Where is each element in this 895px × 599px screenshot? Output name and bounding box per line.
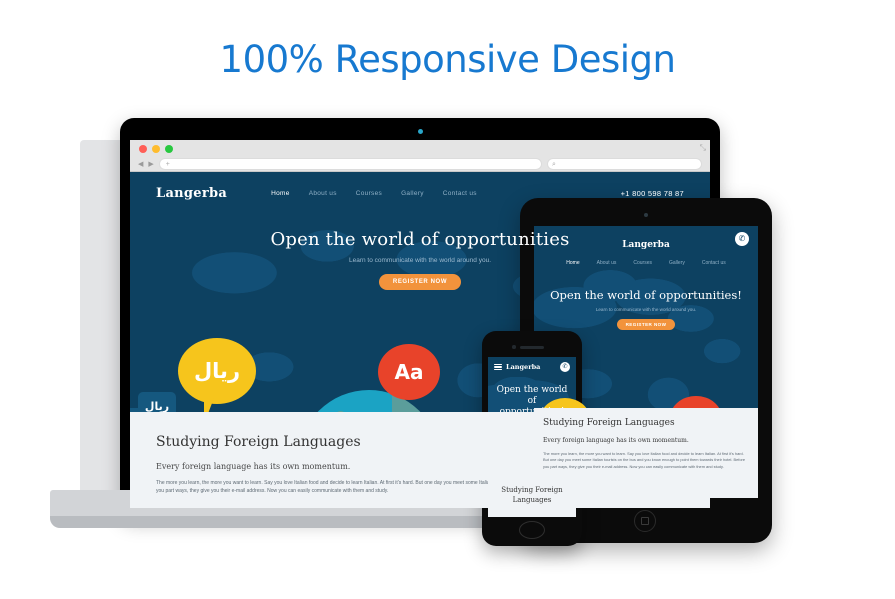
nav-item-home[interactable]: Home (271, 190, 290, 197)
tablet-register-now-button[interactable]: REGISTER NOW (617, 319, 676, 330)
phone-home-button[interactable] (519, 521, 545, 539)
responsive-design-mockup: 100% Responsive Design ⤡ ◀ (0, 0, 895, 599)
yellow-bubble-text: ريال (194, 359, 240, 383)
header-phone-number[interactable]: +1 800 598 78 87 (621, 189, 684, 198)
tablet-section-body: The more you learn, the more you want to… (543, 451, 749, 470)
browser-nav-buttons[interactable]: ◀ ▶ (138, 160, 154, 168)
nav-item-about-us[interactable]: About us (309, 190, 337, 197)
tablet-hero-section: Open the world of opportunities! Learn t… (534, 288, 758, 331)
phone-call-icon-mobile[interactable]: ✆ (560, 362, 570, 372)
tablet-nav-item-courses[interactable]: Courses (633, 260, 652, 266)
tablet-site-header: Langerba ✆ (534, 226, 758, 252)
back-icon[interactable]: ◀ (138, 160, 143, 168)
red-bubble-text: Aa (395, 360, 424, 384)
tablet-main-navigation: Home About us Courses Gallery Contact us (534, 260, 758, 266)
tablet-hero-subheading: Learn to communicate with the world arou… (534, 307, 758, 312)
tablet-nav-item-gallery[interactable]: Gallery (669, 260, 685, 266)
tablet-section-lead: Every foreign language has its own momen… (543, 437, 749, 444)
tablet-site-logo[interactable]: Langerba (622, 240, 670, 250)
phone-call-icon[interactable]: ✆ (735, 232, 749, 246)
close-window-icon[interactable] (139, 145, 147, 153)
red-speech-bubble: Aa (378, 344, 440, 400)
site-logo[interactable]: Langerba (156, 186, 227, 201)
main-navigation: Home About us Courses Gallery Contact us (271, 190, 477, 197)
tablet-section-title: Studying Foreign Languages (543, 418, 749, 428)
nav-item-contact-us[interactable]: Contact us (443, 190, 477, 197)
page-title: 100% Responsive Design (0, 38, 895, 81)
nav-item-courses[interactable]: Courses (356, 190, 382, 197)
register-now-button[interactable]: REGISTER NOW (379, 274, 461, 290)
home-square-icon (641, 517, 649, 525)
tablet-hero-heading: Open the world of opportunities! (534, 288, 758, 302)
tablet-nav-item-home[interactable]: Home (566, 260, 579, 266)
yellow-speech-bubble: ريال (178, 338, 256, 404)
window-controls[interactable] (139, 145, 173, 153)
phone-site-logo[interactable]: Langerba (506, 363, 540, 371)
nav-item-gallery[interactable]: Gallery (401, 190, 424, 197)
phone-section-title: Studying Foreign Languages (493, 485, 571, 505)
tablet-nav-item-about-us[interactable]: About us (597, 260, 617, 266)
tablet-home-button[interactable] (634, 510, 656, 532)
laptop-camera-icon (418, 129, 423, 134)
browser-chrome: ⤡ ◀ ▶ + ⌕ (130, 140, 710, 172)
hamburger-menu-icon[interactable] (494, 362, 502, 372)
forward-icon[interactable]: ▶ (148, 160, 153, 168)
site-header: Langerba Home About us Courses Gallery C… (130, 172, 710, 211)
browser-toolbar: ◀ ▶ + ⌕ (130, 156, 710, 172)
address-bar-input[interactable]: + (159, 158, 542, 170)
browser-search-input[interactable]: ⌕ (547, 158, 702, 170)
resize-handle-icon[interactable]: ⤡ (700, 143, 706, 153)
maximize-window-icon[interactable] (165, 145, 173, 153)
phone-site-header: Langerba ✆ (488, 357, 576, 377)
tablet-nav-item-contact-us[interactable]: Contact us (702, 260, 726, 266)
phone-content-band: Studying Foreign Languages (488, 477, 576, 517)
minimize-window-icon[interactable] (152, 145, 160, 153)
